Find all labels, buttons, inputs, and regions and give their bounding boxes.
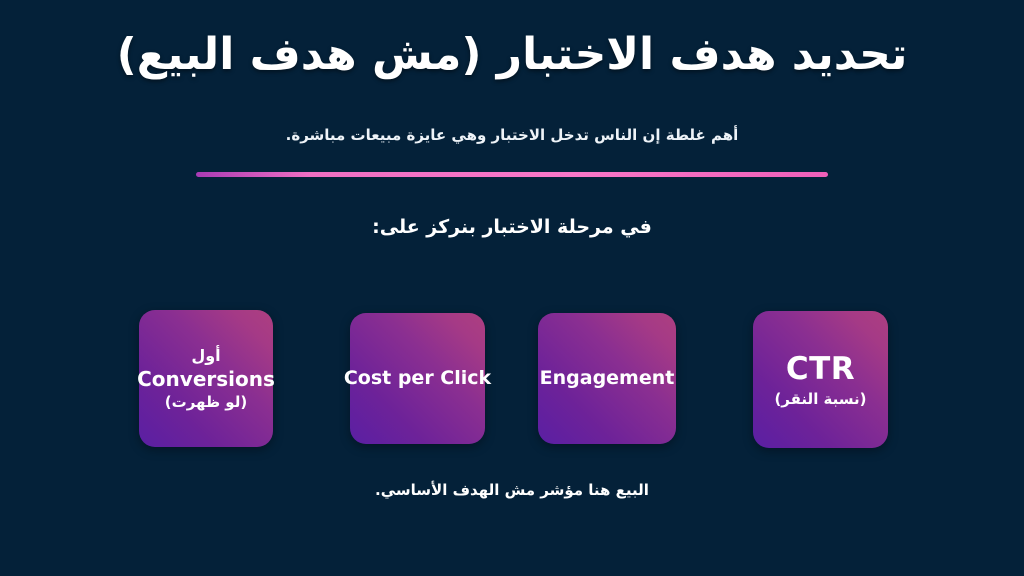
card-ctr: CTR (نسبة النقر)	[753, 311, 888, 448]
title-divider	[196, 172, 828, 177]
card-engagement: Engagement	[538, 313, 676, 444]
footer-note: البيع هنا مؤشر مش الهدف الأساسي.	[0, 481, 1024, 499]
card-first-conversions-line2: Conversions	[137, 367, 275, 392]
card-first-conversions: أول Conversions (لو ظهرت)	[139, 310, 273, 447]
section-heading: في مرحلة الاختبار بنركز على:	[0, 216, 1024, 238]
slide-title: تحديد هدف الاختبار (مش هدف البيع)	[0, 30, 1024, 81]
slide-subtitle: أهم غلطة إن الناس تدخل الاختبار وهي عايز…	[0, 126, 1024, 144]
metric-cards-row: أول Conversions (لو ظهرت) Cost per Click…	[0, 300, 1024, 460]
card-first-conversions-line3: (لو ظهرت)	[165, 392, 247, 412]
card-first-conversions-line1: أول	[191, 345, 220, 367]
slide-canvas: تحديد هدف الاختبار (مش هدف البيع) أهم غل…	[0, 0, 1024, 576]
card-ctr-label: CTR	[786, 350, 855, 389]
card-engagement-label: Engagement	[540, 367, 675, 391]
card-cost-per-click-label: Cost per Click	[344, 367, 491, 391]
card-ctr-sublabel: (نسبة النقر)	[774, 389, 866, 409]
card-cost-per-click: Cost per Click	[350, 313, 485, 444]
